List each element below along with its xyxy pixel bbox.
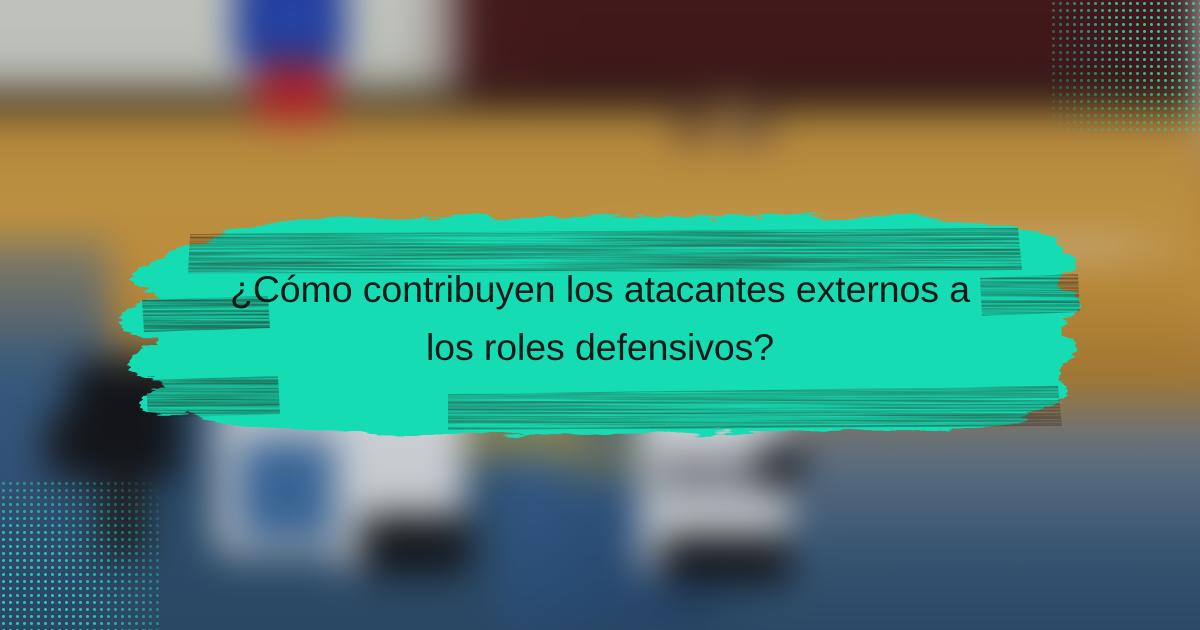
share-card: ¿Cómo contribuyen los atacantes externos… bbox=[0, 0, 1200, 630]
brush-stroke-banner bbox=[118, 182, 1082, 454]
